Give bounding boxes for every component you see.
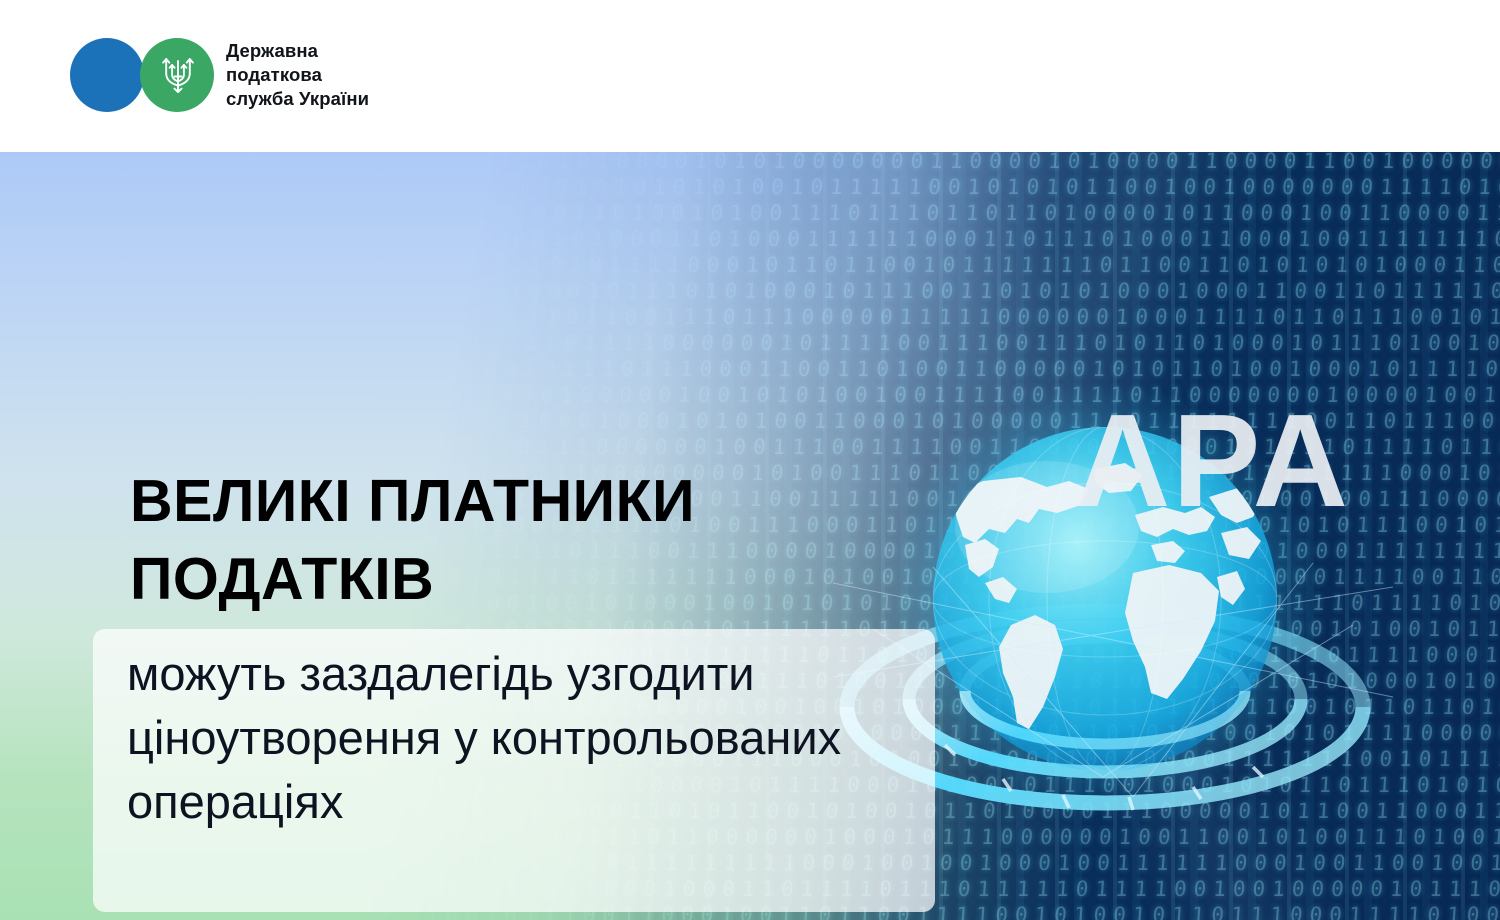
banner-headline: ВЕЛИКІ ПЛАТНИКИ ПОДАТКІВ <box>130 462 890 618</box>
logo-line-1: Державна <box>226 39 369 63</box>
apa-acronym: APA <box>1075 395 1350 527</box>
banner-stage: 1111001001111000101000010111010000111111… <box>0 152 1500 920</box>
logo-marks <box>70 38 202 112</box>
ukraine-trident-icon <box>160 54 196 98</box>
logo-line-3: служба України <box>226 87 369 111</box>
tax-service-logo[interactable]: Державна податкова служба України <box>70 38 369 112</box>
logo-blue-circle-icon <box>70 38 144 112</box>
banner-body-text: можуть заздалегідь узгодити ціноутворенн… <box>127 642 937 834</box>
banner-canvas: Державна податкова служба України 111100… <box>0 0 1500 920</box>
logo-wordmark: Державна податкова служба України <box>226 39 369 112</box>
logo-line-2: податкова <box>226 63 369 87</box>
site-header: Державна податкова служба України <box>0 0 1500 152</box>
